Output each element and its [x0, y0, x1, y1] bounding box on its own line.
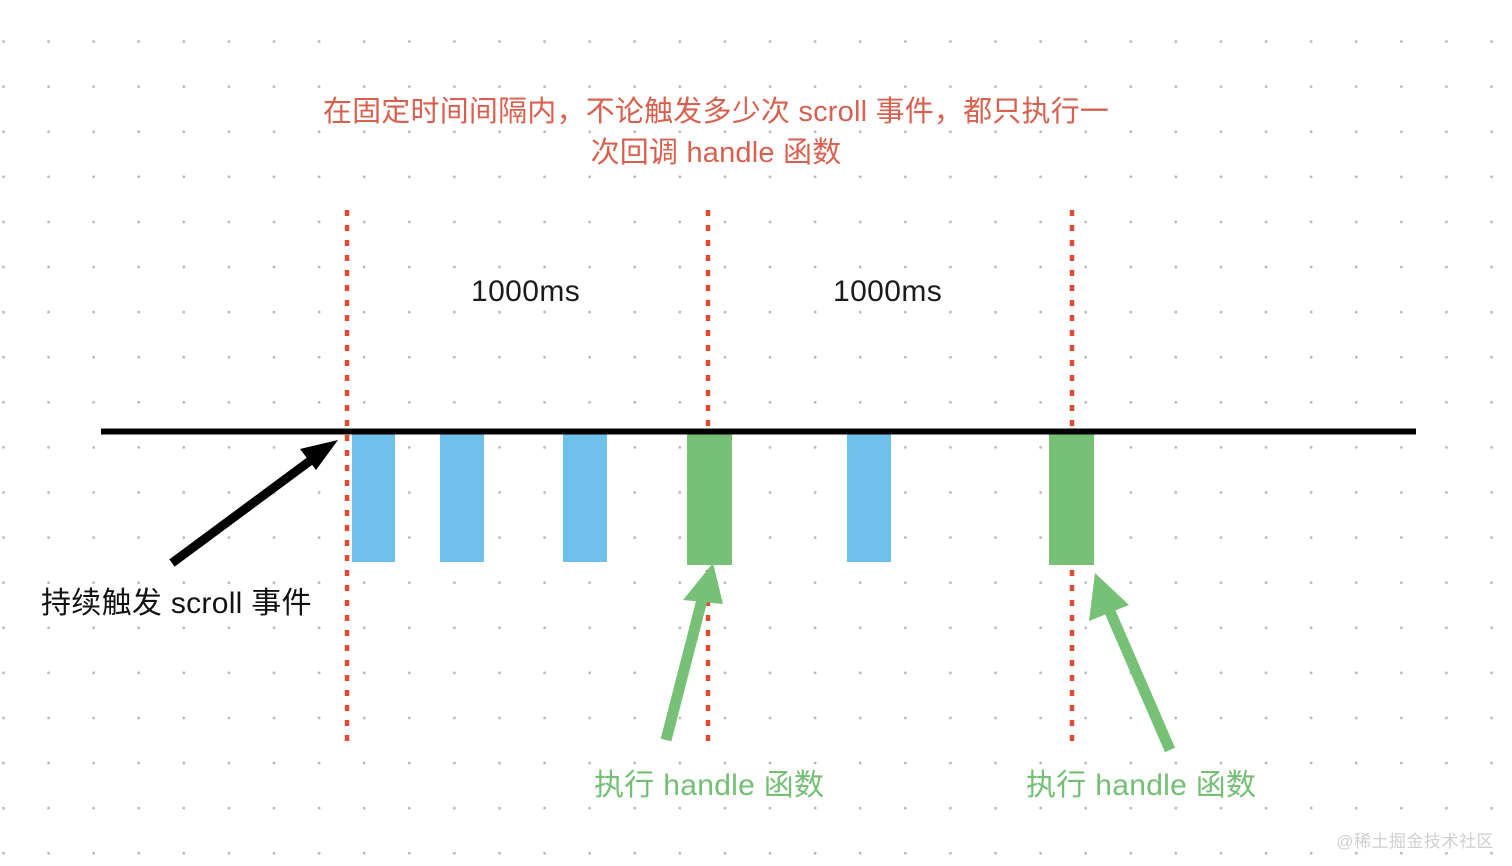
- watermark: @稀土掘金技术社区: [1336, 827, 1494, 852]
- scroll-trigger-label: 持续触发 scroll 事件: [41, 578, 312, 622]
- event-bar-handle-1: [687, 431, 732, 565]
- interval-label-1: 1000ms: [471, 275, 580, 309]
- diagram-title: 在固定时间间隔内，不论触发多少次 scroll 事件，都只执行一 次回调 han…: [256, 92, 1176, 174]
- event-bar-scroll-2: [440, 431, 484, 562]
- handle-call-arrow-2: [1089, 573, 1170, 750]
- event-bar-scroll-4: [847, 431, 891, 562]
- event-bar-scroll-1: [352, 431, 395, 562]
- scroll-trigger-arrow: [172, 440, 338, 563]
- interval-label-2: 1000ms: [833, 275, 942, 309]
- handle-call-arrow-1: [666, 563, 723, 740]
- handle-call-label-2: 执行 handle 函数: [1026, 760, 1256, 804]
- handle-call-label-1: 执行 handle 函数: [594, 760, 824, 804]
- diagram-canvas: 在固定时间间隔内，不论触发多少次 scroll 事件，都只执行一 次回调 han…: [0, 0, 1512, 866]
- event-bar-handle-2: [1049, 431, 1094, 565]
- event-bar-scroll-3: [563, 431, 607, 562]
